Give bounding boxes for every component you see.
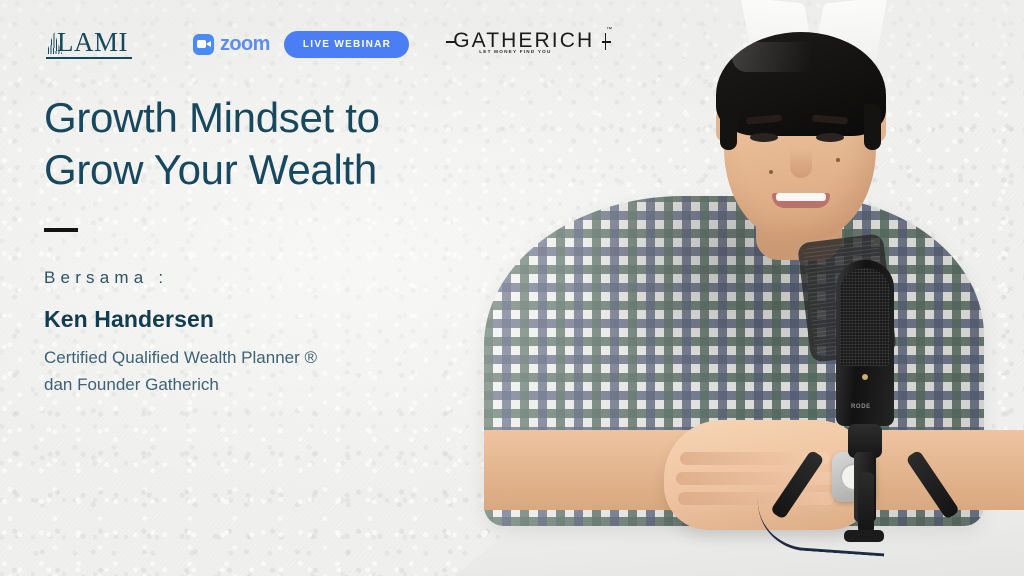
facial-mole-left bbox=[769, 170, 773, 174]
alami-logo: LAMI bbox=[46, 27, 132, 61]
page-title: Growth Mindset to Grow Your Wealth bbox=[44, 92, 380, 196]
sideburn-left bbox=[720, 104, 737, 150]
gatherich-cross-icon bbox=[605, 33, 607, 50]
gatherich-left-bar-icon bbox=[446, 41, 455, 43]
gatherich-right-bar-icon bbox=[602, 41, 611, 43]
webinar-banner: LAMI zoom LIVE WEBINAR GATHERICH ™ LET M… bbox=[0, 0, 1024, 576]
alami-underline bbox=[46, 57, 132, 59]
eye-right bbox=[816, 133, 844, 142]
nose bbox=[790, 148, 812, 178]
teeth bbox=[776, 193, 826, 201]
live-webinar-badge[interactable]: LIVE WEBINAR bbox=[284, 31, 409, 58]
gatherich-tagline: LET MONEY FIND YOU bbox=[479, 49, 551, 54]
facial-mole-right bbox=[836, 158, 840, 162]
speaker-photo: RODE bbox=[564, 0, 1024, 576]
credential-line-1: Certified Qualified Wealth Planner ® bbox=[44, 344, 317, 371]
sideburn-right bbox=[864, 104, 881, 150]
headline-line-2: Grow Your Wealth bbox=[44, 144, 380, 196]
speaker-name: Ken Handersen bbox=[44, 306, 214, 333]
title-divider bbox=[44, 228, 78, 232]
microphone-brand-label: RODE bbox=[851, 404, 871, 410]
trademark-icon: ™ bbox=[606, 27, 612, 33]
microphone-grille bbox=[840, 268, 890, 366]
logo-bar: LAMI zoom LIVE WEBINAR GATHERICH ™ LET M… bbox=[46, 27, 605, 61]
eye-left bbox=[750, 133, 778, 142]
video-camera-icon bbox=[193, 34, 214, 55]
gatherich-logo: GATHERICH ™ LET MONEY FIND YOU bbox=[453, 27, 605, 61]
zoom-wordmark: zoom bbox=[220, 34, 270, 54]
headline-line-1: Growth Mindset to bbox=[44, 92, 380, 144]
speaker-credentials: Certified Qualified Wealth Planner ® dan… bbox=[44, 344, 317, 398]
microphone: RODE bbox=[796, 238, 946, 548]
zoom-logo: zoom bbox=[193, 34, 270, 55]
speaker-intro-label: Bersama : bbox=[44, 268, 168, 288]
smiling-mouth bbox=[772, 193, 830, 208]
credential-line-2: dan Founder Gatherich bbox=[44, 371, 317, 398]
microphone-led-icon bbox=[862, 374, 868, 380]
